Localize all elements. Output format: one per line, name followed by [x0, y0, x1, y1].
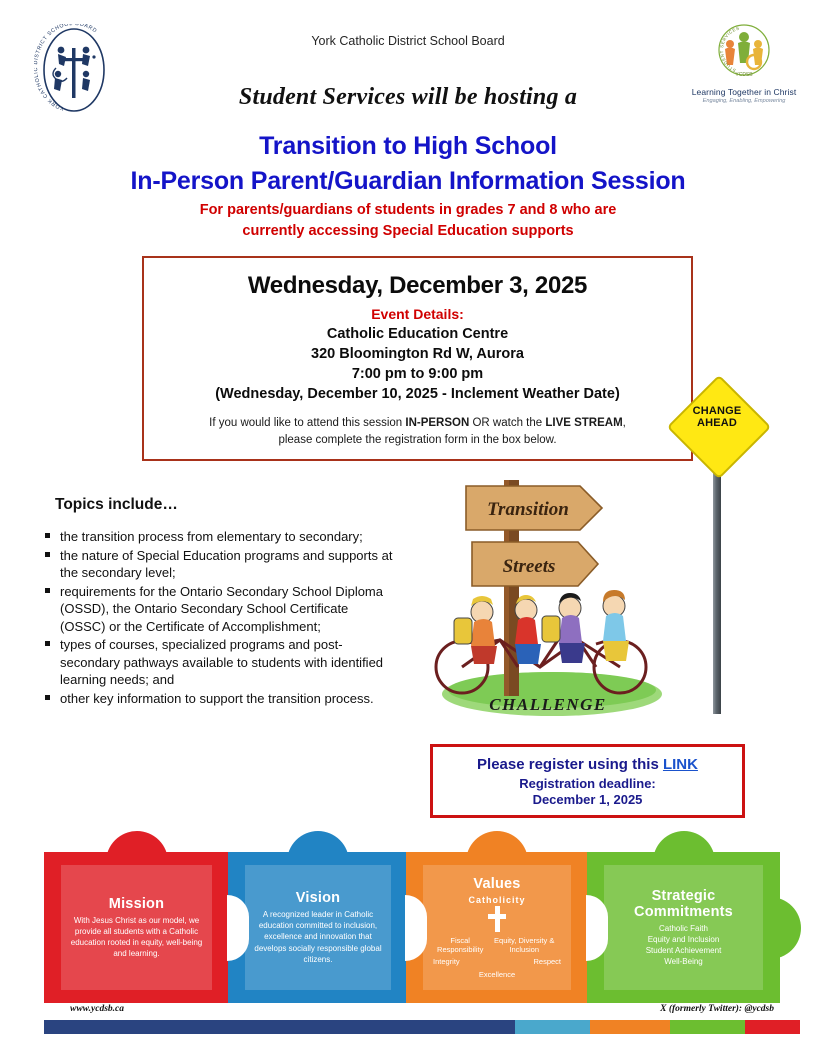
value-fiscal-responsibility: Fiscal Responsibility: [433, 936, 487, 956]
puzzle-title: Mission: [109, 896, 164, 912]
values-row-1: Fiscal Responsibility Equity, Diversity …: [429, 936, 565, 956]
puzzle-piece-vision: Vision A recognized leader in Catholic e…: [228, 852, 408, 1003]
note-bold-in-person: IN-PERSON: [405, 417, 469, 429]
values-row-2: Integrity Respect: [429, 957, 565, 967]
puzzle-body-text: With Jesus Christ as our model, we provi…: [67, 915, 206, 959]
change-ahead-sign: CHANGE AHEAD: [672, 380, 762, 720]
rider-2: [515, 595, 541, 664]
sign-streets-label: Streets: [503, 556, 556, 577]
puzzle-piece-strategic-commitments: Strategic Commitments Catholic Faith Equ…: [587, 852, 780, 1003]
puzzle-title: Vision: [296, 890, 340, 906]
puzzle-footer-graphic: Mission With Jesus Christ as our model, …: [44, 828, 780, 1003]
subtitle-line2: currently accessing Special Education su…: [242, 223, 573, 239]
sign-line1: CHANGE: [693, 405, 742, 417]
topic-text: other key information to support the tra…: [60, 691, 374, 706]
list-item: types of courses, specialized programs a…: [36, 636, 396, 689]
event-date: Wednesday, December 3, 2025: [144, 272, 691, 300]
note-prefix: If you would like to attend this session: [209, 417, 405, 429]
event-address: 320 Bloomington Rd W, Aurora: [144, 346, 691, 362]
bar-segment-orange: [590, 1020, 670, 1034]
subtitle-line1: For parents/guardians of students in gra…: [200, 202, 617, 218]
registration-line1: Please register using this LINK: [433, 756, 742, 773]
note-line2: please complete the registration form in…: [278, 434, 556, 446]
event-venue: Catholic Education Centre: [144, 326, 691, 342]
values-catholicity-label: Catholicity: [468, 895, 525, 905]
puzzle-inner-mission: Mission With Jesus Christ as our model, …: [61, 865, 212, 990]
sign-text: CHANGE AHEAD: [672, 406, 762, 429]
puzzle-title: Strategic Commitments: [610, 888, 757, 920]
list-item: requirements for the Ontario Secondary S…: [36, 583, 396, 636]
sign-streets: Streets: [472, 542, 598, 586]
flyer-page: YORK CATHOLIC DISTRICT SCHOOL BOARD York…: [0, 0, 816, 1056]
event-details-box: Wednesday, December 3, 2025 Event Detail…: [142, 256, 693, 461]
puzzle-body-text: A recognized leader in Catholic educatio…: [251, 909, 385, 964]
event-details-label: Event Details:: [144, 306, 691, 322]
page-title-line1: Transition to High School: [0, 132, 816, 161]
value-integrity: Integrity: [433, 957, 460, 967]
list-item: the nature of Special Education programs…: [36, 547, 396, 582]
event-note: If you would like to attend this session…: [144, 415, 691, 448]
bar-segment-green: [670, 1020, 745, 1034]
sign-line2: AHEAD: [697, 417, 737, 429]
list-item: other key information to support the tra…: [36, 690, 396, 708]
puzzle-piece-values: Values Catholicity Fiscal Responsibility…: [406, 852, 588, 1003]
value-equity-diversity-inclusion: Equity, Diversity & Inclusion: [487, 936, 561, 956]
sign-post: [713, 452, 721, 714]
registration-deadline-date: December 1, 2025: [433, 792, 742, 807]
bullet-icon: [45, 533, 50, 538]
list-item: the transition process from elementary t…: [36, 528, 396, 546]
bar-segment-red: [745, 1020, 800, 1034]
registration-link[interactable]: LINK: [663, 756, 698, 773]
bullet-icon: [45, 641, 50, 646]
puzzle-inner-values: Values Catholicity Fiscal Responsibility…: [423, 865, 571, 990]
footer-social-handle[interactable]: X (formerly Twitter): @ycdsb: [660, 1004, 774, 1014]
student-services-center-text: YCDSB: [735, 72, 753, 78]
page-subtitle: For parents/guardians of students in gra…: [120, 200, 696, 242]
topic-text: types of courses, specialized programs a…: [60, 637, 383, 687]
topic-text: the nature of Special Education programs…: [60, 548, 392, 581]
rider-4: [603, 590, 629, 661]
bar-segment-navy: [44, 1020, 515, 1034]
footer-urls: www.ycdsb.ca X (formerly Twitter): @ycds…: [44, 1004, 780, 1018]
value-excellence: Excellence: [429, 970, 565, 980]
page-title-line2: In-Person Parent/Guardian Information Se…: [0, 167, 816, 196]
event-alt-date: (Wednesday, December 10, 2025 - Inclemen…: [144, 386, 691, 402]
puzzle-piece-mission: Mission With Jesus Christ as our model, …: [44, 852, 229, 1003]
clipart-caption: CHALLENGE: [489, 695, 606, 714]
rider-1: [454, 596, 497, 664]
student-services-logo-icon: STUDENT SERVICES YCDSB: [688, 22, 800, 80]
note-bold-live-stream: LIVE STREAM: [545, 417, 622, 429]
bar-segment-lightblue: [515, 1020, 590, 1034]
note-suffix: ,: [623, 417, 626, 429]
bullet-icon: [45, 695, 50, 700]
puzzle-inner-vision: Vision A recognized leader in Catholic e…: [245, 865, 391, 990]
bullet-icon: [45, 552, 50, 557]
sign-transition-label: Transition: [487, 499, 569, 520]
transition-streets-clipart: Transition Streets: [430, 462, 680, 724]
registration-deadline-label: Registration deadline:: [433, 776, 742, 791]
puzzle-knob-right: [759, 897, 801, 959]
puzzle-body-text: Catholic Faith Equity and Inclusion Stud…: [646, 923, 722, 967]
hosting-line: Student Services will be hosting a: [0, 84, 816, 111]
note-mid: OR watch the: [469, 417, 545, 429]
event-time: 7:00 pm to 9:00 pm: [144, 366, 691, 382]
values-grid: Fiscal Responsibility Equity, Diversity …: [429, 934, 565, 980]
cross-icon: [487, 906, 507, 932]
sign-transition: Transition: [466, 486, 602, 530]
registration-box: Please register using this LINK Registra…: [430, 744, 745, 818]
puzzle-title: Values: [473, 876, 520, 892]
topic-text: requirements for the Ontario Secondary S…: [60, 584, 383, 634]
topics-list: the transition process from elementary t…: [36, 528, 396, 708]
footer-website[interactable]: www.ycdsb.ca: [70, 1004, 124, 1014]
value-respect: Respect: [533, 957, 561, 967]
footer-color-bar: [44, 1020, 800, 1034]
bullet-icon: [45, 588, 50, 593]
puzzle-inner-strategic: Strategic Commitments Catholic Faith Equ…: [604, 865, 763, 990]
topic-text: the transition process from elementary t…: [60, 529, 363, 544]
registration-prefix: Please register using this: [477, 756, 663, 773]
topics-heading: Topics include…: [55, 496, 178, 514]
